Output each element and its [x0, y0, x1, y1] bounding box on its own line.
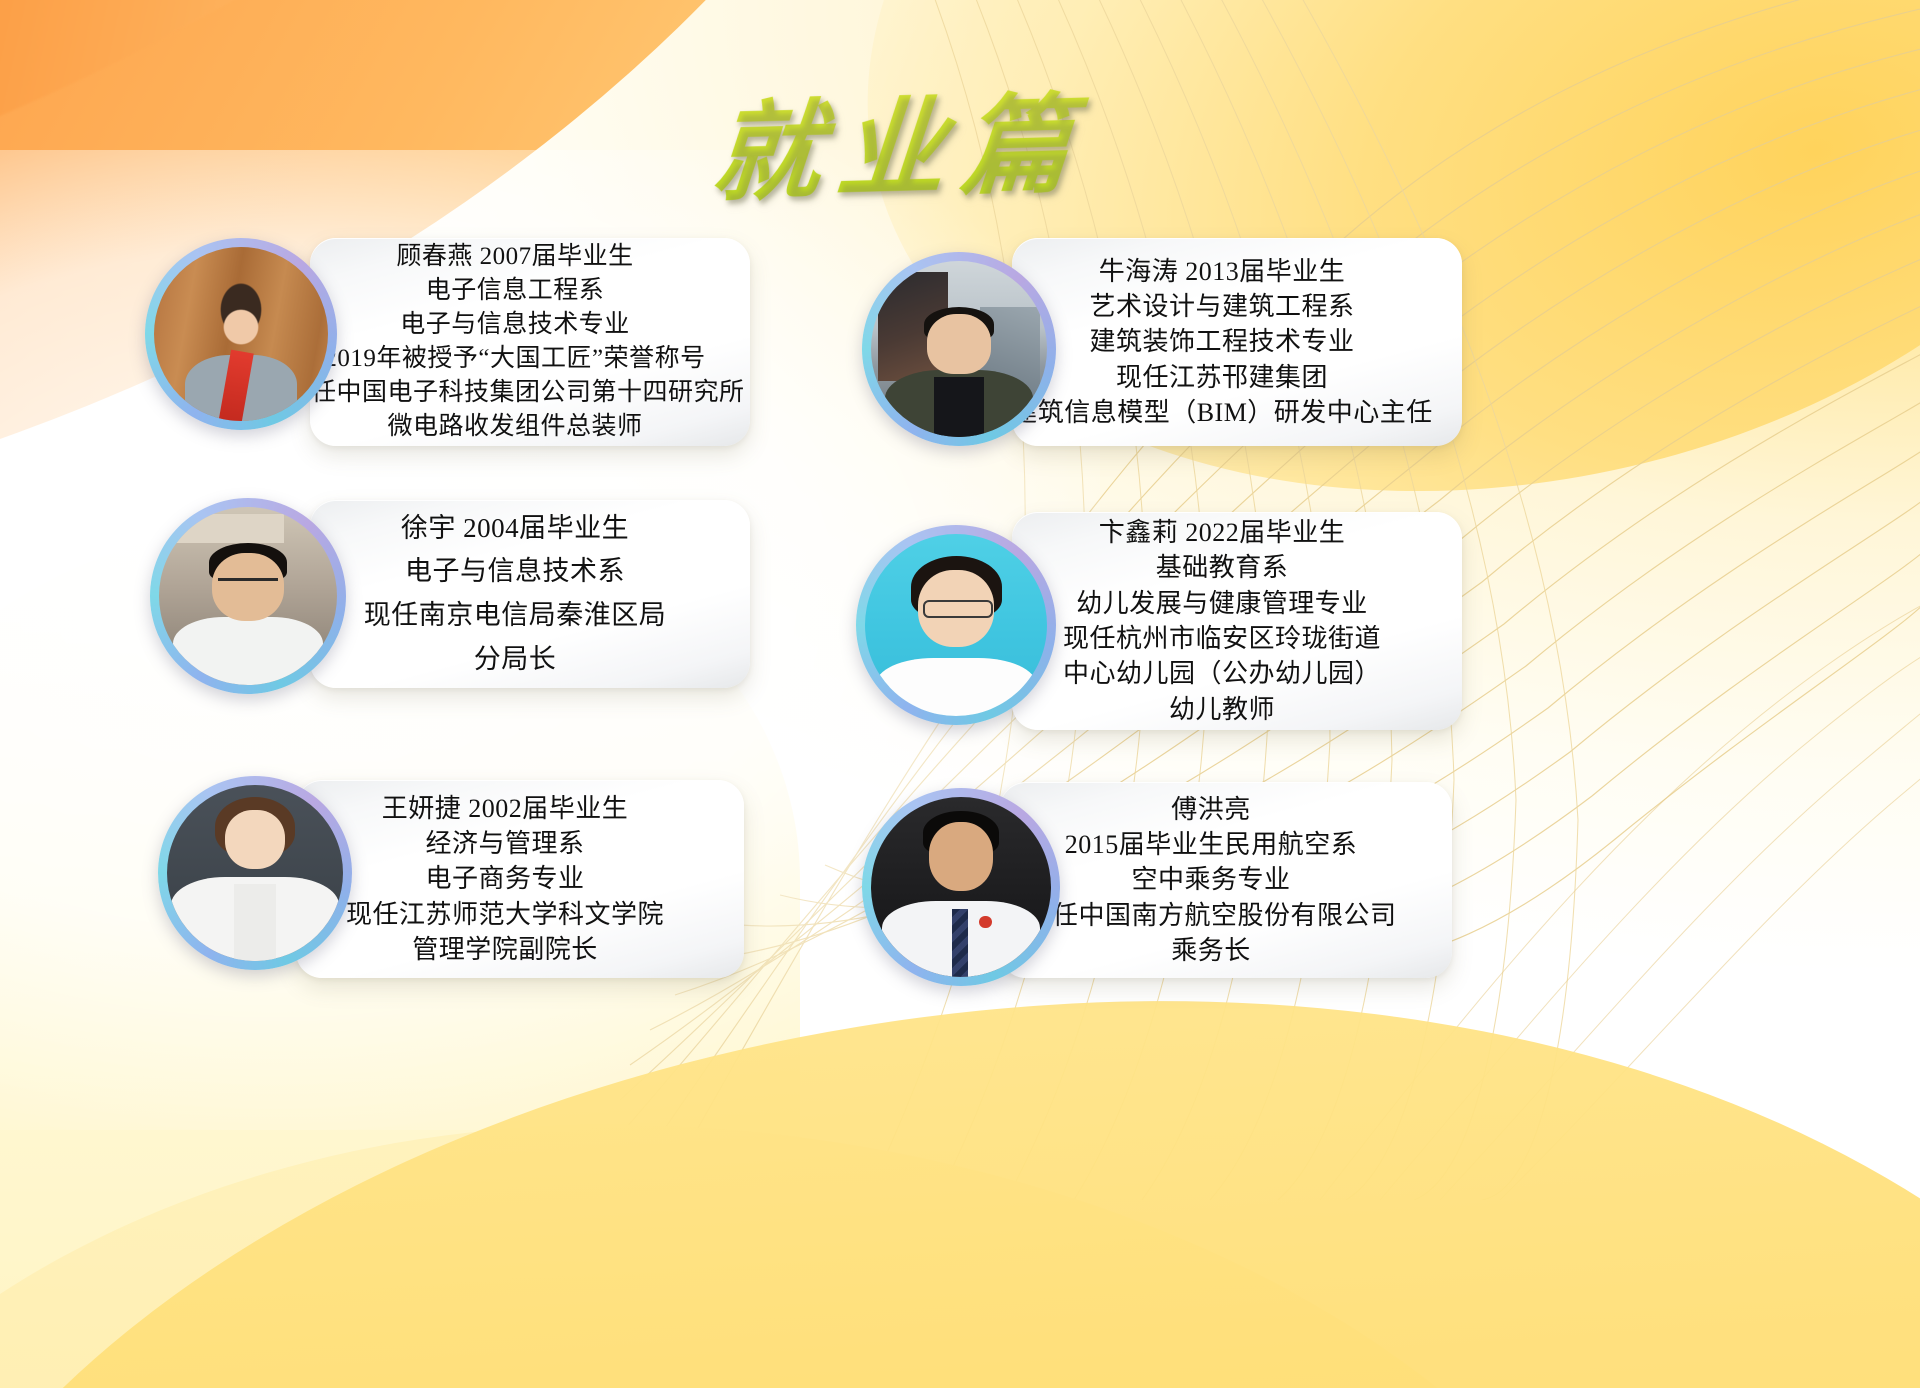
profile-line: 微电路收发组件总装师: [387, 410, 642, 444]
profile-line: 建筑信息模型（BIM）研发中心主任: [1011, 395, 1433, 430]
gu-chunyan-photo: [145, 238, 337, 430]
profile-line: 基础教育系: [1156, 550, 1289, 585]
profile-line: 现任中国电子科技集团公司第十四研究所: [286, 376, 745, 410]
profile-text-block: 顾春燕 2007届毕业生 电子信息工程系 电子与信息技术专业 2019年被授予“…: [310, 238, 750, 446]
fu-hongliang-photo: [862, 788, 1060, 986]
profile-line: 傅洪亮: [1171, 792, 1251, 827]
profile-line: 2019年被授予“大国工匠”荣誉称号: [324, 342, 705, 376]
profile-line: 现任江苏邗建集团: [1116, 360, 1328, 395]
profile-panel: 徐宇 2004届毕业生 电子与信息技术系 现任南京电信局秦淮区局 分局长: [310, 500, 750, 688]
profile-line: 管理学院副院长: [412, 932, 598, 967]
profile-line: 王妍捷 2002届毕业生: [382, 791, 629, 826]
profile-text-block: 傅洪亮 2015届毕业生民用航空系 空中乘务专业 现任中国南方航空股份有限公司 …: [1000, 782, 1452, 978]
profile-line: 徐宇 2004届毕业生: [401, 507, 629, 551]
profile-line: 卞鑫莉 2022届毕业生: [1099, 515, 1346, 550]
profile-line: 电子商务专业: [425, 861, 584, 896]
profile-line: 幼儿发展与健康管理专业: [1076, 586, 1368, 621]
profile-text-block: 王妍捷 2002届毕业生 经济与管理系 电子商务专业 现任江苏师范大学科文学院 …: [296, 780, 744, 978]
page-title: 就业篇: [640, 70, 1160, 210]
profile-line: 顾春燕 2007届毕业生: [396, 240, 633, 274]
profile-text-block: 徐宇 2004届毕业生 电子与信息技术系 现任南京电信局秦淮区局 分局长: [310, 500, 750, 688]
profile-line: 乘务长: [1171, 933, 1251, 968]
profile-line: 电子与信息技术专业: [400, 308, 630, 342]
profile-line: 现任南京电信局秦淮区局: [364, 594, 667, 638]
profile-line: 建筑装饰工程技术专业: [1089, 324, 1354, 359]
profile-text-block: 牛海涛 2013届毕业生 艺术设计与建筑工程系 建筑装饰工程技术专业 现任江苏邗…: [1012, 238, 1462, 446]
wang-yanjie-photo: [158, 776, 352, 970]
bian-xinli-photo: [856, 525, 1056, 725]
profile-line: 现任中国南方航空股份有限公司: [1025, 898, 1396, 933]
profile-line: 艺术设计与建筑工程系: [1089, 289, 1354, 324]
profile-line: 电子信息工程系: [426, 274, 605, 308]
niu-haitao-photo: [862, 252, 1056, 446]
xu-yu-photo: [150, 498, 346, 694]
profile-line: 2015届毕业生民用航空系: [1065, 827, 1358, 862]
profile-panel: 顾春燕 2007届毕业生 电子信息工程系 电子与信息技术专业 2019年被授予“…: [310, 238, 750, 446]
profile-line: 幼儿教师: [1169, 692, 1275, 727]
profile-line: 分局长: [474, 638, 557, 682]
profile-line: 空中乘务专业: [1131, 862, 1290, 897]
profile-panel: 王妍捷 2002届毕业生 经济与管理系 电子商务专业 现任江苏师范大学科文学院 …: [296, 780, 744, 978]
profile-line: 牛海涛 2013届毕业生: [1099, 254, 1346, 289]
slide-canvas: 就业篇 顾春燕 2007届毕业生 电子信息工程系 电子与信息技术专业 2019年…: [0, 0, 1920, 1388]
profile-line: 经济与管理系: [425, 826, 584, 861]
profile-panel: 卞鑫莉 2022届毕业生 基础教育系 幼儿发展与健康管理专业 现任杭州市临安区玲…: [1012, 512, 1462, 730]
profile-panel: 傅洪亮 2015届毕业生民用航空系 空中乘务专业 现任中国南方航空股份有限公司 …: [1000, 782, 1452, 978]
profile-line: 中心幼儿园（公办幼儿园）: [1063, 656, 1381, 691]
profile-line: 现任江苏师范大学科文学院: [346, 897, 664, 932]
profile-panel: 牛海涛 2013届毕业生 艺术设计与建筑工程系 建筑装饰工程技术专业 现任江苏邗…: [1012, 238, 1462, 446]
profile-text-block: 卞鑫莉 2022届毕业生 基础教育系 幼儿发展与健康管理专业 现任杭州市临安区玲…: [1012, 512, 1462, 730]
page-title-text: 就业篇: [707, 57, 1092, 223]
profile-line: 电子与信息技术系: [405, 550, 625, 594]
profile-line: 现任杭州市临安区玲珑街道: [1063, 621, 1381, 656]
